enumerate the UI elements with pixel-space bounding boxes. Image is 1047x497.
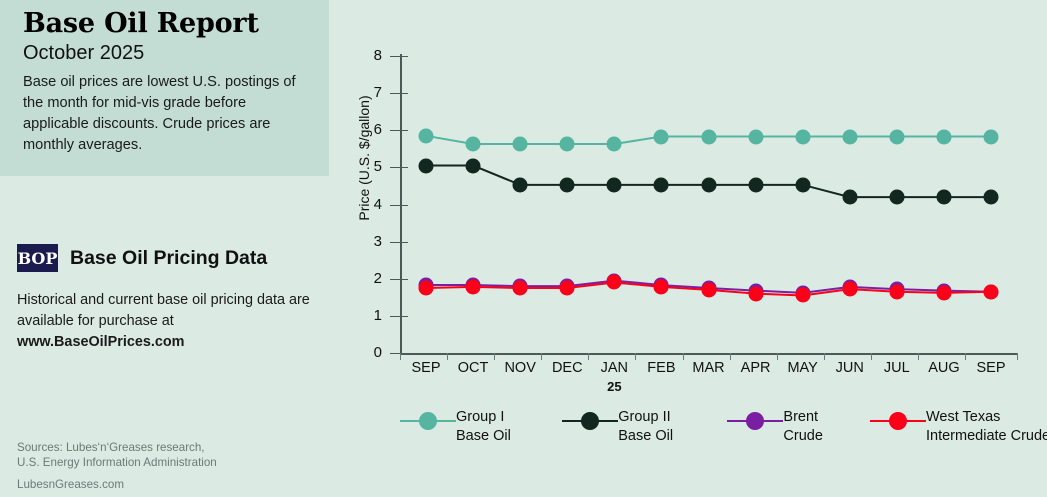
legend-item[interactable]: West TexasIntermediate Crude [870, 408, 1040, 446]
data-point [984, 284, 999, 299]
data-point [795, 177, 810, 192]
data-point [419, 158, 434, 173]
data-point [795, 288, 810, 303]
legend-label-line1: Group I [456, 408, 511, 427]
legend-label: West TexasIntermediate Crude [926, 408, 1047, 446]
legend-dot [889, 412, 907, 430]
data-point [701, 129, 716, 144]
data-point [984, 129, 999, 144]
bop-logo: BOP [17, 244, 58, 272]
data-point [936, 285, 951, 300]
legend-label-line2: Crude [783, 427, 823, 446]
data-point [560, 136, 575, 151]
price-line-chart: Price (U.S. $/gallon) 012345678 SEPOCTNO… [330, 0, 1047, 497]
legend-dot [581, 412, 599, 430]
legend-item[interactable]: Group IIBase Oil [562, 408, 727, 446]
data-point [513, 136, 528, 151]
legend-label: Group IIBase Oil [618, 408, 673, 446]
data-point [466, 279, 481, 294]
legend-label: BrentCrude [783, 408, 823, 446]
data-point [513, 281, 528, 296]
data-point [654, 177, 669, 192]
bop-header-row: BOP Base Oil Pricing Data [17, 244, 267, 272]
data-point [654, 129, 669, 144]
bop-url-link[interactable]: www.BaseOilPrices.com [17, 334, 184, 350]
data-point [748, 129, 763, 144]
data-point [607, 177, 622, 192]
data-point [889, 190, 904, 205]
legend-label-line2: Base Oil [618, 427, 673, 446]
legend-label-line2: Base Oil [456, 427, 511, 446]
legend-label: Group IBase Oil [456, 408, 511, 446]
data-point [748, 286, 763, 301]
data-point [560, 177, 575, 192]
data-point [936, 129, 951, 144]
base-oil-report-infographic: Base Oil Report October 2025 Base oil pr… [0, 0, 1047, 497]
legend-item[interactable]: Group IBase Oil [400, 408, 562, 446]
data-point [842, 282, 857, 297]
legend-item[interactable]: BrentCrude [727, 408, 870, 446]
data-point [842, 129, 857, 144]
data-point [466, 158, 481, 173]
data-point [466, 136, 481, 151]
data-point [560, 281, 575, 296]
legend-label-line1: Brent [783, 408, 823, 427]
site-url[interactable]: LubesnGreases.com [17, 478, 124, 491]
data-point [889, 129, 904, 144]
page-title: Base Oil Report [23, 8, 259, 39]
chart-legend: Group IBase OilGroup IIBase OilBrentCrud… [400, 408, 1040, 446]
data-point [419, 281, 434, 296]
header-panel: Base Oil Report October 2025 Base oil pr… [0, 0, 329, 176]
legend-dot [746, 412, 764, 430]
data-point [795, 129, 810, 144]
data-point [936, 190, 951, 205]
legend-label-line2: Intermediate Crude [926, 427, 1047, 446]
legend-dot [419, 412, 437, 430]
bop-title: Base Oil Pricing Data [70, 247, 267, 270]
data-point [607, 136, 622, 151]
data-point [419, 128, 434, 143]
legend-label-line1: Group II [618, 408, 673, 427]
legend-marker-icon [562, 410, 618, 432]
legend-marker-icon [870, 410, 926, 432]
bop-description: Historical and current base oil pricing … [17, 290, 312, 353]
data-point [513, 177, 528, 192]
data-point [701, 177, 716, 192]
data-point [748, 177, 763, 192]
data-point [701, 282, 716, 297]
legend-label-line1: West Texas [926, 408, 1047, 427]
bop-description-text: Historical and current base oil pricing … [17, 292, 310, 329]
legend-marker-icon [727, 410, 783, 432]
sources-note: Sources: Lubes‘n‘Greases research, U.S. … [17, 440, 217, 470]
data-point [842, 190, 857, 205]
data-point [984, 190, 999, 205]
legend-marker-icon [400, 410, 456, 432]
report-date: October 2025 [23, 42, 144, 65]
data-point [889, 284, 904, 299]
data-point [654, 279, 669, 294]
data-point [607, 275, 622, 290]
report-description: Base oil prices are lowest U.S. postings… [23, 72, 306, 156]
